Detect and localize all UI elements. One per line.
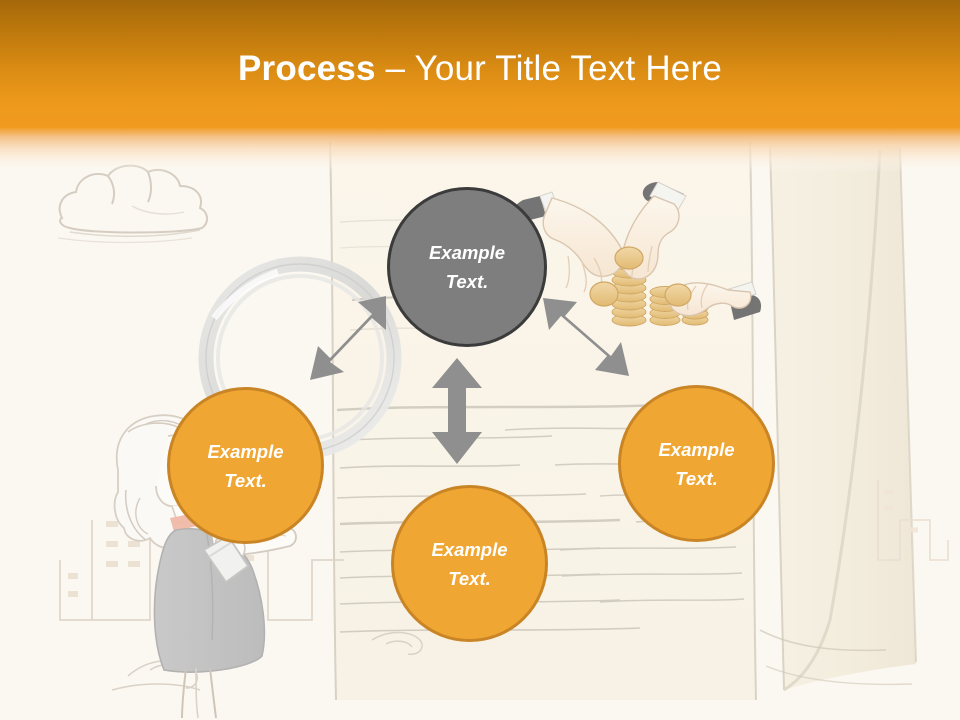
process-node-right[interactable]: Example Text. [618, 385, 775, 542]
process-node-right-line1: Example [658, 435, 734, 464]
page-title: Process – Your Title Text Here [0, 47, 960, 91]
page-title-light: – Your Title Text Here [376, 49, 722, 88]
connector-arrow-top-left [300, 288, 410, 388]
process-node-top[interactable]: Example Text. [387, 187, 547, 347]
swirl-sketch [112, 661, 200, 690]
connector-arrow-top-right [533, 288, 645, 388]
process-node-bottom[interactable]: Example Text. [391, 485, 548, 642]
hand-right [665, 282, 761, 320]
process-node-left-line1: Example [207, 437, 283, 466]
title-banner-fade [0, 127, 960, 173]
process-node-left[interactable]: Example Text. [167, 387, 324, 544]
hand-middle [615, 182, 686, 279]
process-node-left-line2: Text. [224, 466, 267, 495]
process-node-bottom-line1: Example [431, 535, 507, 564]
presentation-slide: Example Text. Example Text. Example Text… [0, 0, 960, 720]
paper-sheet-right [760, 145, 916, 690]
process-node-top-line2: Text. [446, 267, 489, 296]
city-buildings-sketch-right [878, 480, 948, 560]
swirl-sketch-center [372, 633, 422, 655]
process-node-bottom-line2: Text. [448, 564, 491, 593]
process-node-top-line1: Example [429, 238, 505, 267]
connector-arrow-vertical [426, 356, 488, 466]
page-title-bold: Process [238, 49, 376, 88]
process-node-right-line2: Text. [675, 464, 718, 493]
cloud-sketch [58, 166, 207, 243]
